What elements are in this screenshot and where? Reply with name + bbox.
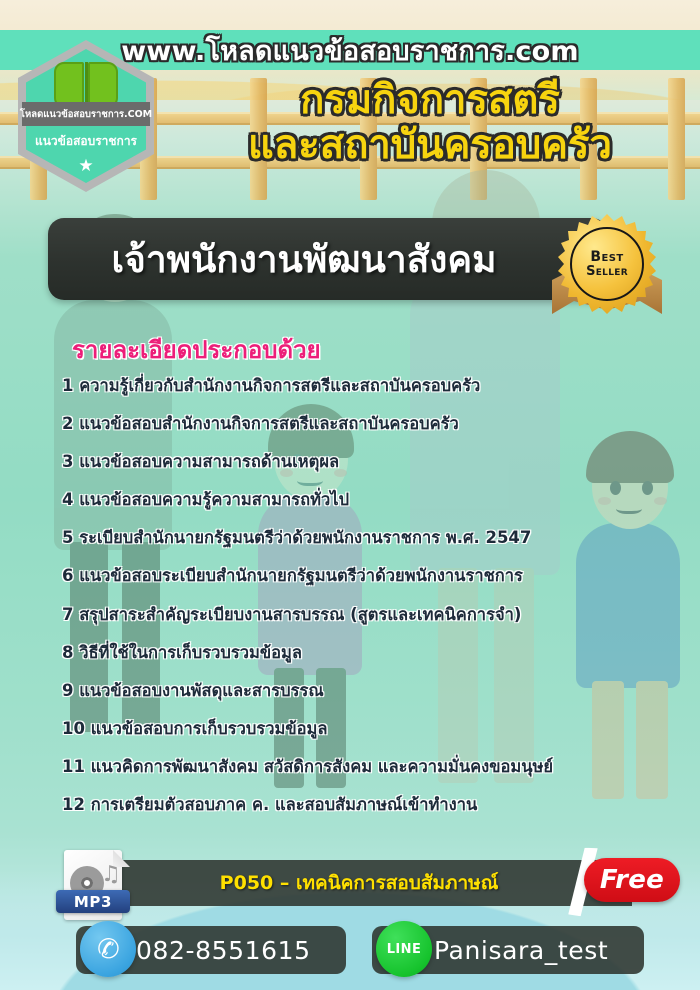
free-pill: Free: [584, 858, 680, 902]
details-item-list: 1 ความรู้เกี่ยวกับสำนักงานกิจการสตรีและส…: [62, 378, 662, 835]
best-seller-badge: Best Seller: [548, 212, 666, 320]
mp3-label: MP3: [56, 890, 130, 913]
line-id: Panisara_test: [434, 936, 608, 965]
page-title: กรมกิจการสตรี และสถาบันครอบครัว: [180, 78, 680, 168]
brand-badge: โหลดแนวข้อสอบราชการ.COM แนวข้อสอบราชการ …: [18, 40, 154, 192]
list-item: 4 แนวข้อสอบความรู้ความสามารถทั่วไป: [62, 492, 662, 509]
bonus-product-text: P050 – เทคนิคการสอบสัมภาษณ์: [220, 868, 499, 898]
list-item: 6 แนวข้อสอบระเบียบสำนักนายกรัฐมนตรีว่าด้…: [62, 568, 662, 585]
job-position-title: เจ้าพนักงานพัฒนาสังคม: [48, 230, 608, 289]
phone-number: 082-8551615: [136, 936, 311, 965]
free-badge: Free: [566, 852, 682, 912]
list-item: 2 แนวข้อสอบสำนักงานกิจการสตรีและสถาบันคร…: [62, 416, 662, 433]
list-item: 10 แนวข้อสอบการเก็บรวบรวมข้อมูล: [62, 721, 662, 738]
list-item: 3 แนวข้อสอบความสามารถด้านเหตุผล: [62, 454, 662, 471]
page-title-line2: และสถาบันครอบครัว: [180, 123, 680, 168]
job-title-bar: เจ้าพนักงานพัฒนาสังคม: [48, 218, 608, 300]
best-seller-line1: Best: [590, 250, 623, 264]
poster-root: www.โหลดแนวข้อสอบราชการ.com โหลดแนวข้อสอ…: [0, 0, 700, 990]
list-item: 1 ความรู้เกี่ยวกับสำนักงานกิจการสตรีและส…: [62, 378, 662, 395]
list-item: 5 ระเบียบสำนักนายกรัฐมนตรีว่าด้วยพนักงาน…: [62, 530, 662, 547]
star-icon: ★: [78, 158, 93, 175]
bonus-product-bar: P050 – เทคนิคการสอบสัมภาษณ์: [86, 860, 632, 906]
medal-disc: Best Seller: [570, 227, 644, 301]
page-title-line1: กรมกิจการสตรี: [300, 77, 560, 123]
best-seller-line2: Seller: [586, 265, 628, 278]
phone-glyph: ✆: [95, 934, 121, 964]
music-note-icon: ♫: [101, 864, 121, 886]
list-item: 7 สรุปสาระสำคัญระเบียบงานสารบรรณ (สูตรแล…: [62, 607, 662, 624]
badge-strip-text: โหลดแนวข้อสอบราชการ.COM: [22, 102, 150, 126]
list-item: 9 แนวข้อสอบงานพัสดุและสารบรรณ: [62, 683, 662, 700]
list-item: 8 วิธีที่ใช้ในการเก็บรวบรวมข้อมูล: [62, 645, 662, 662]
phone-icon: ✆: [80, 921, 136, 977]
details-heading: รายละเอียดประกอบด้วย: [72, 330, 321, 369]
line-icon: LINE: [376, 921, 432, 977]
list-item: 12 การเตรียมตัวสอบภาค ค. และสอบสัมภาษณ์เ…: [62, 797, 662, 814]
free-label: Free: [600, 865, 664, 895]
mp3-file-icon: ♫ MP3: [56, 850, 130, 922]
line-label: LINE: [387, 942, 421, 957]
badge-sub-text: แนวข้อสอบราชการ: [18, 132, 154, 151]
list-item: 11 แนวคิดการพัฒนาสังคม สวัสดิการสังคม แล…: [62, 759, 662, 776]
